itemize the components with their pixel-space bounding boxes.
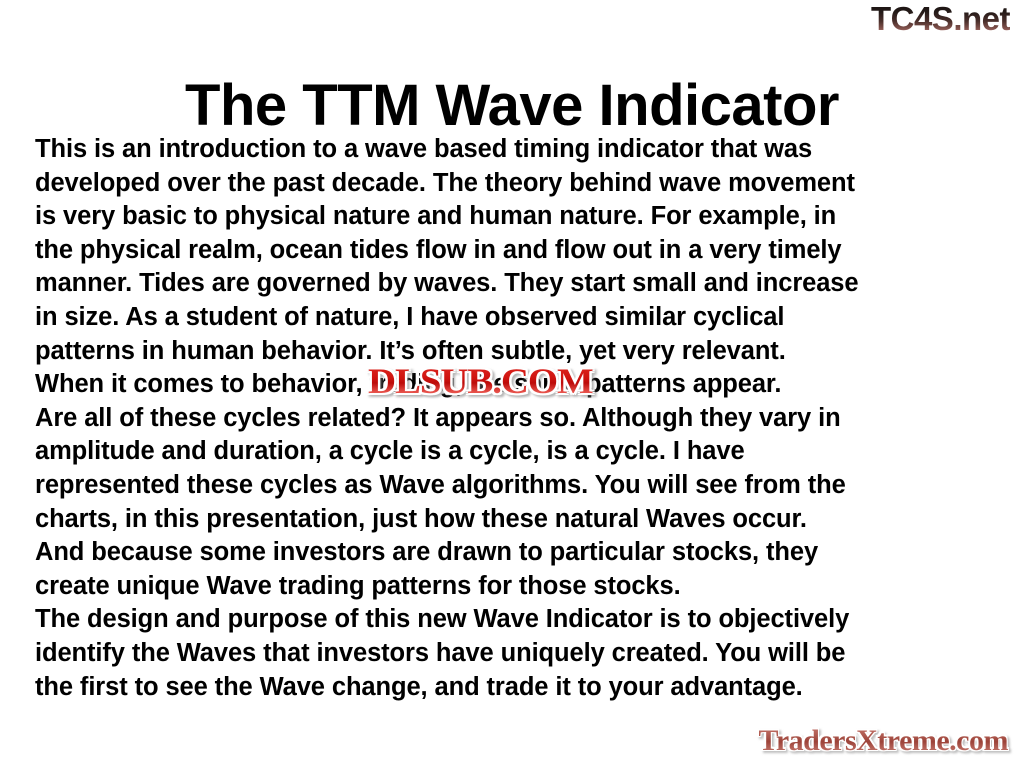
slide-canvas: TC4S.net The TTM Wave Indicator This is … (0, 0, 1024, 768)
page-title: The TTM Wave Indicator (0, 75, 1024, 138)
body-line: manner. Tides are governed by waves. The… (35, 267, 1000, 301)
body-line: the physical realm, ocean tides flow in … (35, 234, 1000, 268)
tradersxtreme-watermark: TradersXtreme.com (759, 724, 1008, 758)
body-line: And because some investors are drawn to … (35, 536, 1000, 570)
body-line: in size. As a student of nature, I have … (35, 301, 1000, 335)
body-line: developed over the past decade. The theo… (35, 167, 1000, 201)
body-line: identify the Waves that investors have u… (35, 637, 1000, 671)
body-line: charts, in this presentation, just how t… (35, 503, 1000, 537)
body-line: The design and purpose of this new Wave … (35, 603, 1000, 637)
body-line: amplitude and duration, a cycle is a cyc… (35, 435, 1000, 469)
body-line: the first to see the Wave change, and tr… (35, 671, 1000, 705)
body-line: This is an introduction to a wave based … (35, 133, 1000, 167)
body-text-block: This is an introduction to a wave based … (35, 133, 1000, 704)
body-line: represented these cycles as Wave algorit… (35, 469, 1000, 503)
body-line: create unique Wave trading patterns for … (35, 570, 1000, 604)
dlsub-watermark: DLSUB.COM (368, 362, 593, 400)
body-line: is very basic to physical nature and hum… (35, 200, 1000, 234)
body-line: Are all of these cycles related? It appe… (35, 402, 1000, 436)
tc4s-brand-logo: TC4S.net (871, 2, 1010, 35)
